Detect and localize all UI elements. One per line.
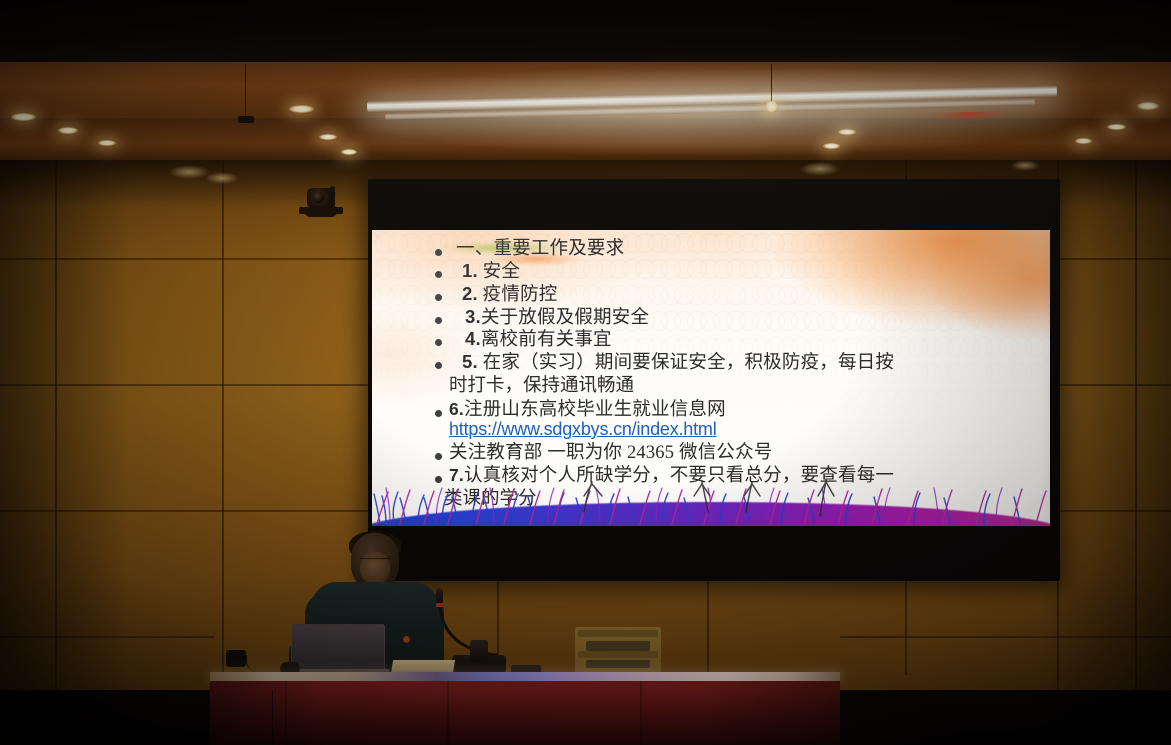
wall-light-reflection: [800, 162, 840, 176]
table-cloth-shading: [210, 681, 840, 745]
slide-url-link[interactable]: https://www.sdgxbys.cn/index.html: [449, 419, 717, 439]
table-edge-highlight: [210, 672, 840, 681]
wall-seam-horizontal: [1056, 510, 1171, 512]
bullet-icon: [435, 453, 442, 460]
slide-line-number: 1.: [462, 260, 478, 281]
slide-line-text: 注册山东高校毕业生就业信息网: [464, 400, 726, 420]
ceiling-soffit-lower: [0, 118, 1171, 164]
ceiling: [0, 0, 1171, 64]
cable-connector-box: [226, 650, 246, 667]
grass-decoration-band: [372, 468, 1050, 526]
pendant-rod: [245, 64, 246, 118]
bullet-icon: [435, 294, 442, 301]
chair-gap: [586, 641, 650, 651]
chair-gap: [586, 660, 650, 668]
pendant-rod: [771, 64, 772, 106]
bullet-icon: [435, 362, 442, 369]
ceiling-downlight: [58, 127, 78, 134]
chair-slat: [578, 630, 658, 637]
slide-line-text: 关于放假及假期安全: [481, 308, 649, 328]
wall-seam-vertical: [905, 580, 907, 675]
slide-line-text: 离校前有关事宜: [481, 330, 612, 350]
slide-line-text: 关注教育部 一职为你 24365 微信公众号: [442, 444, 773, 463]
ceiling-downlight: [1107, 124, 1126, 130]
hanging-cable: [272, 690, 287, 745]
slide-line-text: 疫情防控: [483, 285, 558, 305]
microphone-indicator: [436, 603, 443, 607]
camera-bracket-lower: [305, 212, 337, 217]
slide-line-item-6: 6.注册山东高校毕业生就业信息网: [372, 401, 1050, 420]
wall-light-reflection: [168, 165, 210, 179]
slide-line-item-5-wrap: 时打卡，保持通讯畅通: [372, 371, 1050, 397]
slide-line-heading: 一、重要工作及要求: [372, 240, 1050, 259]
wall-seam-horizontal: [0, 384, 372, 386]
presenter-lapel-badge: [403, 636, 410, 643]
slide-url-row: https://www.sdgxbys.cn/index.html: [372, 419, 1050, 440]
ceiling-downlight: [98, 140, 116, 146]
bullet-icon: [435, 271, 442, 278]
cable: [246, 655, 287, 671]
wall-light-reflection: [205, 172, 239, 184]
slide-line-number: 6.: [449, 399, 464, 419]
slide-line-number: 5.: [462, 351, 478, 372]
ceiling-downlight: [289, 105, 314, 113]
bullet-icon: [435, 317, 442, 324]
pendant-light: [766, 101, 777, 112]
wall-seam-vertical: [1135, 160, 1137, 690]
slide-line-item-2: 2. 疫情防控: [372, 285, 1050, 305]
ceiling-downlight: [11, 113, 36, 121]
slide-line-item-3: 3.关于放假及假期安全: [372, 308, 1050, 328]
presenter-glasses-icon: [360, 558, 390, 565]
wall-seam-horizontal: [0, 510, 372, 512]
bullet-icon: [435, 410, 442, 417]
wall-light-reflection: [1010, 160, 1040, 171]
camera-lens-icon: [313, 192, 324, 203]
wall-seam-horizontal: [840, 636, 1171, 638]
wall-seam-vertical: [55, 160, 57, 690]
laptop-screen: [291, 624, 385, 674]
pendant-fixture: [238, 116, 254, 123]
slide-line-wechat: 关注教育部 一职为你 24365 微信公众号: [372, 444, 1050, 463]
table-cloth-fold: [640, 681, 642, 745]
ceiling-downlight: [823, 143, 840, 149]
wall-seam-vertical: [222, 160, 224, 690]
slide-line-item-1: 1. 安全: [372, 262, 1050, 282]
lecture-hall-photo: 一、重要工作及要求 1. 安全 2. 疫情防控 3.关于放假及假期: [0, 0, 1171, 745]
slide-line-text: 安全: [483, 262, 520, 282]
presenter-face: [360, 552, 390, 584]
bullet-icon: [435, 339, 442, 346]
slide-line-number: 4.: [465, 328, 481, 349]
grass-blades-icon: [372, 468, 1050, 526]
chair-slat: [578, 651, 658, 658]
wall-seam-vertical: [707, 580, 709, 675]
ceiling-downlight: [1075, 138, 1092, 144]
ceiling-downlight: [319, 134, 337, 140]
wall-seam-horizontal: [0, 258, 372, 260]
slide-line-item-4: 4.离校前有关事宜: [372, 330, 1050, 350]
microphone-capsule: [436, 588, 443, 604]
wall-seam-horizontal: [1056, 258, 1171, 260]
presentation-slide: 一、重要工作及要求 1. 安全 2. 疫情防控 3.关于放假及假期: [372, 230, 1050, 526]
table-cloth-fold: [447, 681, 449, 745]
ceiling-downlight: [838, 129, 856, 135]
desk-equipment: [470, 640, 488, 662]
slide-line-number: 2.: [462, 283, 478, 304]
ceiling-downlight: [1137, 102, 1159, 110]
wall-seam-horizontal: [1056, 384, 1171, 386]
bullet-icon: [435, 249, 442, 256]
wall-seam-horizontal: [0, 636, 215, 638]
slide-line-number: 3.: [465, 306, 481, 327]
ceiling-downlight: [341, 149, 357, 155]
slide-line-text: 一、重要工作及要求: [442, 240, 624, 259]
